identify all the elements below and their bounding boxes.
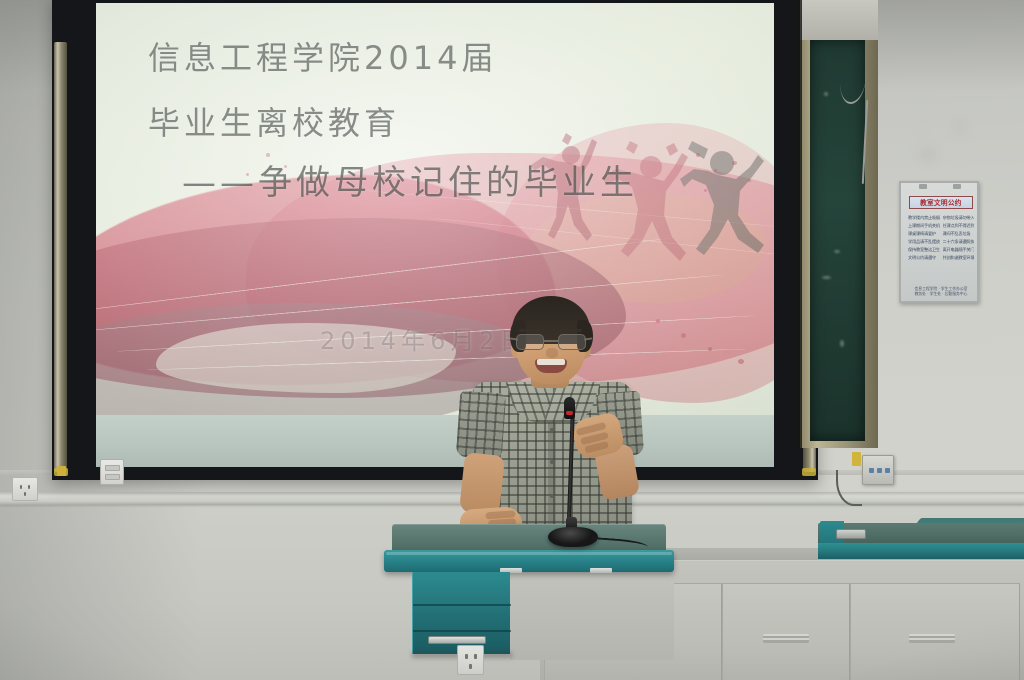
podium-drawer-handle[interactable] (428, 636, 486, 644)
blackboard-edge-shadow (788, 0, 802, 448)
podium-front-panel (510, 570, 674, 660)
cabinet-vent (909, 634, 955, 643)
chalk-mark (822, 276, 831, 279)
blackboard-top-cap (800, 0, 878, 40)
chalk-mark (840, 340, 844, 347)
slide-speck (284, 165, 287, 168)
screen-bracket-tab (852, 452, 861, 466)
cabinet-door[interactable] (722, 583, 850, 680)
notice-rule: 课间不乱丢垃圾 (943, 231, 975, 237)
slide-title-line2: 毕业生离校教育 (148, 98, 400, 144)
slide-speck (708, 347, 712, 351)
eyeglass-lens-left (516, 334, 544, 350)
rear-desk-latch[interactable] (836, 529, 866, 539)
notice-rule: 学用品请不乱摆放 (908, 239, 940, 245)
speaker-eyebrow-left (519, 329, 541, 332)
notice-rule: 二十六条请遵照执行 (943, 239, 975, 245)
notice-title-text: 教室文明公约 (920, 198, 962, 208)
microphone[interactable] (556, 397, 596, 547)
notice-rule: 教学楼内禁止吸烟 (908, 215, 940, 221)
notice-title-banner: 教室文明公约 (909, 196, 973, 209)
wall-smudge (918, 118, 927, 136)
screen-rail-foot (802, 468, 816, 476)
eyeglasses-icon (514, 334, 588, 351)
photograph-scene: 信息工程学院2014届 毕业生离校教育 ——争做母校记住的毕业生 2014年6月… (0, 0, 1024, 680)
rear-teal-desk (818, 515, 1024, 563)
shirt-button (550, 494, 554, 498)
shirt-button (550, 460, 554, 464)
wall-smudge (30, 100, 37, 107)
rear-desk-edge (818, 543, 1024, 559)
chalk-mark (824, 92, 828, 96)
microphone-gooseneck (567, 403, 575, 523)
speaker-teeth (537, 359, 565, 365)
notice-footer-line: 教务处 · 学生处 · 后勤服务中心 (911, 291, 971, 296)
podium-edge-highlight (386, 552, 672, 555)
notice-rule: 上课期间手机关机 (908, 223, 940, 229)
microphone-base (548, 527, 598, 547)
chalk-mark (834, 250, 840, 253)
notice-clip (953, 184, 961, 189)
eyeglass-lens-right (558, 334, 586, 350)
notice-rule: 离开电器随手关门 (943, 247, 975, 253)
shirt-button (550, 428, 554, 432)
speaker-eyebrow-right (560, 329, 582, 332)
slide-speck (266, 153, 270, 157)
slide-speck (738, 359, 744, 364)
slide-speck (246, 173, 249, 176)
wall-junction-box[interactable] (862, 455, 894, 485)
cabinet-vent (763, 634, 809, 643)
notice-rule: 文明公约请遵守 (908, 255, 940, 261)
notice-clip (919, 184, 927, 189)
notice-footer: 信息工程学院 · 学生工作办公室 教务处 · 学生处 · 后勤服务中心 (911, 286, 971, 296)
projected-slide: 信息工程学院2014届 毕业生离校教育 ——争做母校记住的毕业生 2014年6月… (96, 3, 774, 467)
notice-rule: 课桌课椅请爱护 (908, 231, 940, 237)
shirt-sleeve-left (456, 390, 506, 459)
wall-smudge (955, 124, 965, 131)
eyeglass-bridge (544, 340, 558, 342)
speaker-arm-left (459, 452, 505, 516)
wall-lower-shading (0, 505, 200, 680)
floor-power-outlet[interactable] (457, 645, 484, 675)
notice-rule: 保持教室整洁卫生 (908, 247, 940, 253)
wall-power-outlet[interactable] (12, 477, 38, 501)
microphone-indicator-light (566, 411, 573, 415)
podium-clip (590, 568, 612, 573)
microphone-head (564, 397, 575, 419)
notice-rules-grid: 教学楼内禁止吸烟 杂物垃圾请勿带入 上课期间手机关机 任课点到不得迟到 课桌课椅… (908, 215, 974, 261)
screen-bracket-tab (57, 466, 66, 476)
slide-title-line1: 信息工程学院2014届 (148, 33, 497, 79)
screen-bottom-band (96, 415, 774, 467)
notice-rule: 杂物垃圾请勿带入 (943, 215, 975, 221)
notice-rule: 任课点到不得迟到 (943, 223, 975, 229)
notice-rule: 共创和谐教室环境 (943, 255, 975, 261)
wall-smudge (920, 150, 936, 159)
slide-speck (681, 333, 686, 338)
drawer-seam (413, 630, 511, 632)
slide-speck (656, 319, 660, 323)
light-switch-panel[interactable] (100, 459, 124, 485)
screen-rail-left (54, 42, 67, 472)
speaker (456, 296, 646, 556)
speaker-mouth (535, 359, 567, 373)
drawer-seam (413, 604, 511, 606)
graduate-silhouette-3 (678, 135, 774, 285)
cabinet-door[interactable] (850, 583, 1020, 680)
projection-screen: 信息工程学院2014届 毕业生离校教育 ——争做母校记住的毕业生 2014年6月… (52, 0, 818, 480)
notice-board[interactable]: 教室文明公约 教学楼内禁止吸烟 杂物垃圾请勿带入 上课期间手机关机 任课点到不得… (899, 181, 979, 303)
blackboard-panel (800, 0, 878, 448)
